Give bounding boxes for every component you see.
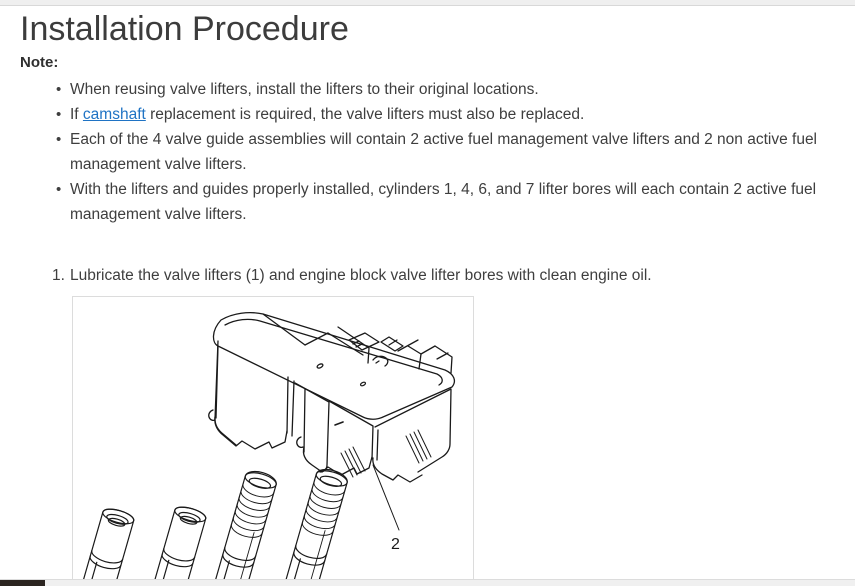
page-title: Installation Procedure	[0, 7, 855, 51]
note-text-before: With the lifters and guides properly ins…	[70, 181, 816, 223]
note-text-before: Each of the 4 valve guide assemblies wil…	[70, 131, 817, 173]
step-number: 1.	[52, 263, 65, 288]
procedure-step-list: 1. Lubricate the valve lifters (1) and e…	[0, 263, 855, 579]
step-text: Lubricate the valve lifters (1) and engi…	[70, 267, 652, 284]
list-item: 1. Lubricate the valve lifters (1) and e…	[70, 263, 855, 579]
note-text-before: When reusing valve lifters, install the …	[70, 81, 539, 98]
document-content: Installation Procedure Note: When reusin…	[0, 7, 855, 579]
list-item: When reusing valve lifters, install the …	[70, 77, 855, 102]
figure-frame: 2	[72, 296, 474, 579]
list-item: Each of the 4 valve guide assemblies wil…	[70, 127, 855, 177]
browser-top-strip	[0, 0, 855, 6]
valve-lifter-guide-illustration: 2	[73, 297, 473, 579]
note-text-before: If	[70, 106, 83, 123]
horizontal-scrollbar-thumb[interactable]	[0, 580, 45, 586]
horizontal-scrollbar[interactable]	[0, 579, 855, 586]
note-bullet-list: When reusing valve lifters, install the …	[0, 77, 855, 227]
note-label: Note:	[0, 51, 855, 73]
note-text-after: replacement is required, the valve lifte…	[146, 106, 585, 123]
camshaft-link[interactable]: camshaft	[83, 106, 146, 123]
list-item: If camshaft replacement is required, the…	[70, 102, 855, 127]
callout-label-2: 2	[391, 536, 400, 553]
list-item: With the lifters and guides properly ins…	[70, 177, 855, 227]
